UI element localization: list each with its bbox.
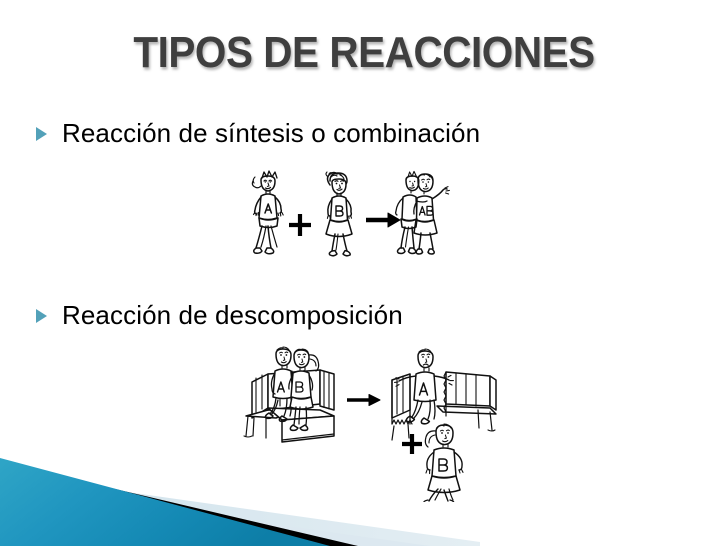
decomposition-reaction-cartoon [232, 342, 498, 502]
bullet-item-label: Reacción de descomposición [62, 300, 403, 331]
bullet-item-decomposition: Reacción de descomposición [36, 300, 403, 331]
synthesis-drawing [248, 168, 454, 276]
page-title: TIPOS DE REACCIONES [29, 30, 699, 76]
bullet-item-synthesis: Reacción de síntesis o combinación [36, 118, 480, 149]
decomposition-drawing [232, 342, 498, 502]
triangle-right-bullet-icon [36, 127, 47, 141]
bullet-item-label: Reacción de síntesis o combinación [62, 118, 480, 149]
slide-canvas: TIPOS DE REACCIONES Reacción de síntesis… [0, 0, 728, 546]
triangle-right-bullet-icon [36, 309, 47, 323]
synthesis-reaction-cartoon [248, 168, 454, 276]
pale-wedge-2 [200, 514, 430, 546]
